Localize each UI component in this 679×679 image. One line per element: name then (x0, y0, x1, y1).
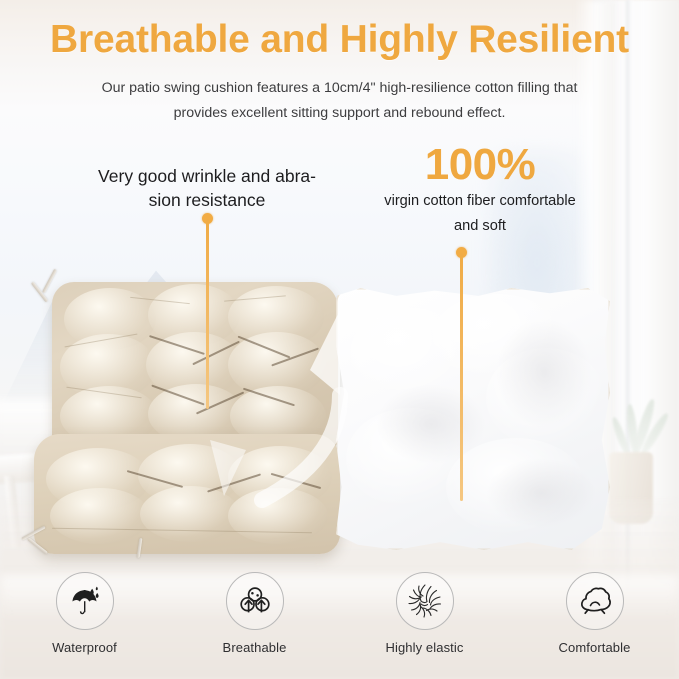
cloud-cushion-icon (577, 584, 613, 618)
callout-right-line-1: virgin cotton fiber comfortable (330, 190, 630, 213)
callout-right-line-2: and soft (330, 215, 630, 238)
cotton-filling-image (336, 288, 610, 550)
pointer-stem (206, 219, 209, 409)
feature-waterproof: Waterproof (27, 572, 143, 655)
feature-label: Comfortable (537, 640, 653, 655)
feature-icon-circle (396, 572, 454, 630)
percent-badge: 100% (330, 142, 630, 188)
cushion-seat-puff (140, 486, 240, 542)
cotton-shading (376, 384, 486, 464)
cushion-seat-puff (228, 488, 328, 544)
feature-label: Highly elastic (367, 640, 483, 655)
cotton-shading (486, 458, 596, 528)
feature-highly-elastic: Highly elastic (367, 572, 483, 655)
feature-label: Breathable (197, 640, 313, 655)
callout-right: 100% virgin cotton fiber comfortable and… (330, 142, 630, 238)
product-marketing-image: Breathable and Highly Resilient Our pati… (0, 0, 679, 679)
cushion-product-image (30, 282, 342, 554)
plant-leaf (639, 411, 671, 457)
plant-leaf (631, 398, 657, 457)
plant-pot (609, 452, 653, 524)
callout-left: Very good wrinkle and abra- sion resista… (62, 164, 352, 212)
plant-leaf (609, 416, 632, 458)
page-title: Breathable and Highly Resilient (0, 18, 679, 62)
cushion-seat-puff (50, 488, 150, 544)
cotton-boll-airflow-icon (238, 584, 272, 618)
feature-icon-circle (566, 572, 624, 630)
feature-icon-circle (56, 572, 114, 630)
woven-fiber-mesh-icon (406, 582, 444, 620)
feature-badges: Waterproof Breathable (0, 572, 679, 655)
cotton-shading (496, 318, 592, 428)
subtitle-line-2: provides excellent sitting support and r… (50, 101, 629, 126)
umbrella-rain-icon (68, 584, 102, 618)
feature-comfortable: Comfortable (537, 572, 653, 655)
feature-breathable: Breathable (197, 572, 313, 655)
feature-icon-circle (226, 572, 284, 630)
cushion-tie (42, 269, 57, 293)
plant-leaf (624, 404, 640, 457)
side-table-leg (4, 476, 22, 548)
pointer-stem (460, 253, 463, 501)
callout-left-line-2: sion resistance (62, 188, 352, 212)
subtitle-line-1: Our patio swing cushion features a 10cm/… (50, 76, 629, 101)
feature-label: Waterproof (27, 640, 143, 655)
page-subtitle: Our patio swing cushion features a 10cm/… (50, 76, 629, 126)
callout-left-line-1: Very good wrinkle and abra- (62, 164, 352, 188)
